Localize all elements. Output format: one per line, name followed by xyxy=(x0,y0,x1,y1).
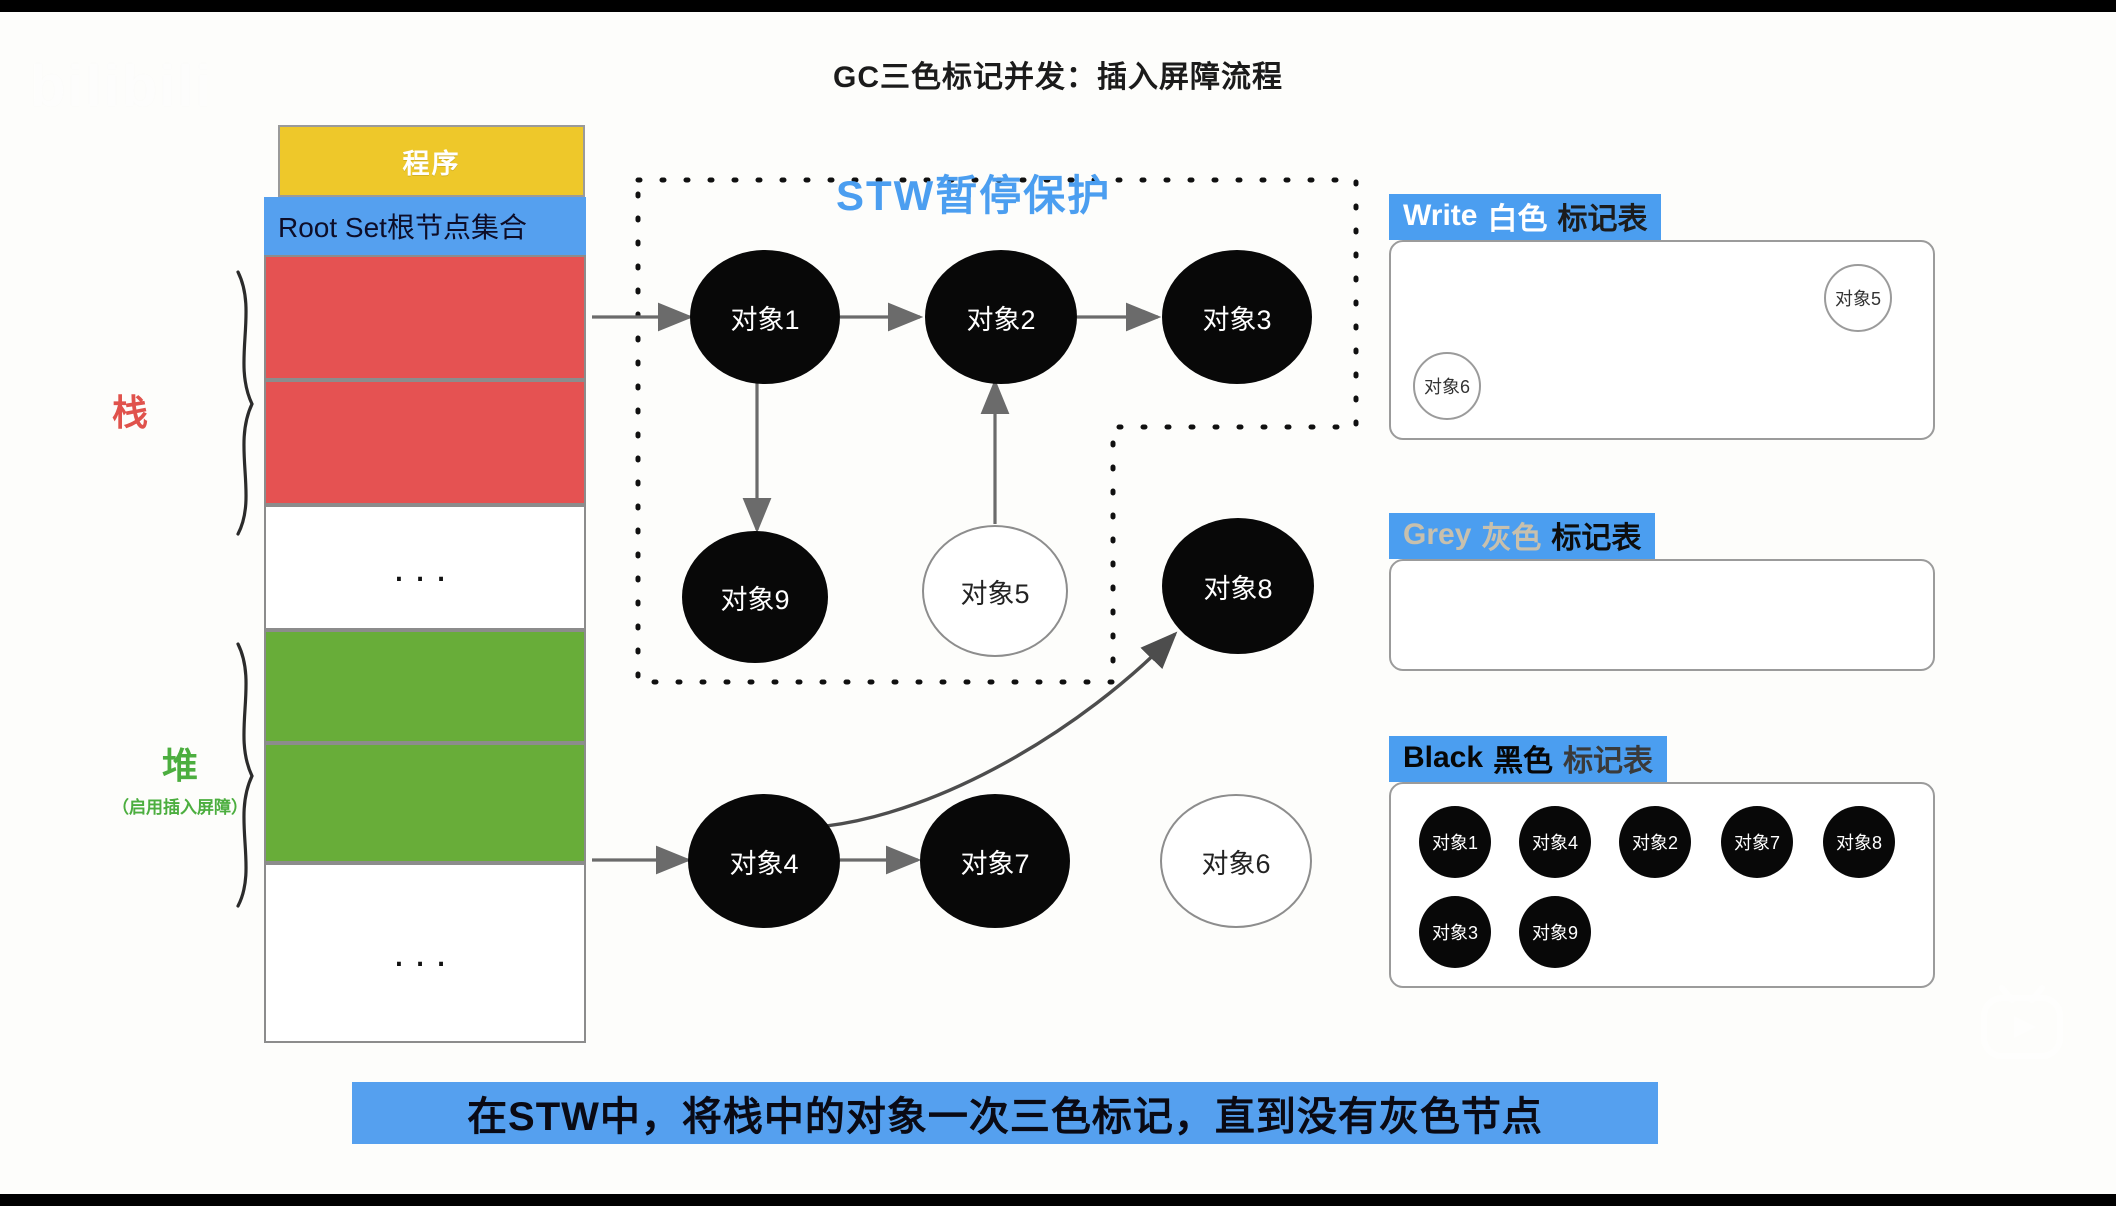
black-mark-chip-5[interactable]: 对象8 xyxy=(1823,806,1895,878)
memory-block-gap-2: ... xyxy=(264,863,586,1043)
stw-label: STW暂停保护 xyxy=(836,162,1111,223)
memory-block-heap-1 xyxy=(264,630,586,743)
black-mark-chip-1-label: 对象1 xyxy=(1432,829,1478,855)
memory-block-root-set: Root Set根节点集合 xyxy=(264,197,586,255)
heap-label: 堆 xyxy=(90,737,270,789)
black-mark-table-cn: 黑色 xyxy=(1493,736,1553,780)
graph-node-o4[interactable]: 对象4 xyxy=(688,794,840,928)
white-mark-table-suffix: 标记表 xyxy=(1557,194,1647,238)
memory-block-stack-2 xyxy=(264,380,586,505)
graph-node-o9[interactable]: 对象9 xyxy=(682,531,828,663)
graph-node-o1-label: 对象1 xyxy=(730,298,799,337)
graph-node-o3[interactable]: 对象3 xyxy=(1162,250,1312,384)
black-mark-table-header: Black 黑色 标记表 xyxy=(1389,736,1667,782)
white-mark-table-en: Write xyxy=(1403,199,1477,233)
graph-node-o4-label: 对象4 xyxy=(729,842,798,881)
black-mark-table-body: 对象1 对象4 对象2 对象7 对象8 对象3 对象9 xyxy=(1389,782,1935,988)
black-mark-chip-5-label: 对象8 xyxy=(1836,829,1882,855)
graph-node-o1[interactable]: 对象1 xyxy=(690,250,840,384)
white-mark-chip-1[interactable]: 对象5 xyxy=(1824,264,1892,332)
grey-mark-table-cn: 灰色 xyxy=(1481,513,1541,557)
black-mark-chip-3-label: 对象2 xyxy=(1632,829,1678,855)
white-mark-chip-2-label: 对象6 xyxy=(1424,373,1470,399)
memory-block-gap-1-label: ... xyxy=(266,548,584,588)
black-mark-chip-3[interactable]: 对象2 xyxy=(1619,806,1691,878)
memory-block-program: 程序 xyxy=(278,125,585,197)
stack-label: 栈 xyxy=(112,384,148,436)
graph-node-o3-label: 对象3 xyxy=(1202,298,1271,337)
memory-block-heap-2 xyxy=(264,743,586,863)
graph-node-o6[interactable]: 对象6 xyxy=(1160,794,1312,928)
black-mark-chip-7[interactable]: 对象9 xyxy=(1519,896,1591,968)
memory-block-root-set-label: Root Set根节点集合 xyxy=(266,206,584,246)
graph-node-o2[interactable]: 对象2 xyxy=(925,250,1077,384)
graph-node-o9-label: 对象9 xyxy=(720,578,789,617)
graph-node-o5[interactable]: 对象5 xyxy=(922,525,1068,657)
memory-block-gap-2-label: ... xyxy=(266,933,584,973)
graph-node-o8-label: 对象8 xyxy=(1203,567,1272,606)
black-mark-chip-4-label: 对象7 xyxy=(1734,829,1780,855)
grey-mark-table-header: Grey 灰色 标记表 xyxy=(1389,513,1655,559)
memory-block-stack-1 xyxy=(264,255,586,380)
black-mark-chip-2-label: 对象4 xyxy=(1532,829,1578,855)
black-mark-table-suffix: 标记表 xyxy=(1563,736,1653,780)
heap-sublabel: （启用插入屏障） xyxy=(90,793,270,818)
white-mark-table-header: Write 白色 标记表 xyxy=(1389,194,1661,240)
bilibili-tv-icon xyxy=(1968,974,2076,1070)
black-mark-table-en: Black xyxy=(1403,741,1483,775)
white-mark-table-cn: 白色 xyxy=(1487,194,1547,238)
grey-mark-table-body xyxy=(1389,559,1935,671)
black-mark-chip-6-label: 对象3 xyxy=(1432,919,1478,945)
stack-brace xyxy=(238,272,252,534)
video-frame: bilibili GC三色标记并发：插入屏障流程 程序 Root Set根节点集… xyxy=(0,0,2116,1206)
slide-canvas: bilibili GC三色标记并发：插入屏障流程 程序 Root Set根节点集… xyxy=(0,12,2116,1194)
black-mark-chip-1[interactable]: 对象1 xyxy=(1419,806,1491,878)
graph-node-o7[interactable]: 对象7 xyxy=(920,794,1070,928)
grey-mark-table-en: Grey xyxy=(1403,518,1471,552)
white-mark-chip-1-label: 对象5 xyxy=(1835,285,1881,311)
slide-caption: 在STW中，将栈中的对象一次三色标记，直到没有灰色节点 xyxy=(352,1082,1658,1144)
page-title: GC三色标记并发：插入屏障流程 xyxy=(0,52,2116,96)
black-mark-chip-4[interactable]: 对象7 xyxy=(1721,806,1793,878)
black-mark-chip-7-label: 对象9 xyxy=(1532,919,1578,945)
white-mark-table-body: 对象5 对象6 xyxy=(1389,240,1935,440)
white-mark-chip-2[interactable]: 对象6 xyxy=(1413,352,1481,420)
graph-node-o7-label: 对象7 xyxy=(960,842,1029,881)
graph-node-o8[interactable]: 对象8 xyxy=(1162,518,1314,654)
heap-label-group: 堆 （启用插入屏障） xyxy=(90,737,270,818)
black-mark-chip-6[interactable]: 对象3 xyxy=(1419,896,1491,968)
black-mark-chip-2[interactable]: 对象4 xyxy=(1519,806,1591,878)
graph-node-o2-label: 对象2 xyxy=(966,298,1035,337)
graph-node-o5-label: 对象5 xyxy=(960,572,1029,611)
grey-mark-table-suffix: 标记表 xyxy=(1551,513,1641,557)
memory-block-gap-1: ... xyxy=(264,505,586,630)
memory-block-program-label: 程序 xyxy=(280,142,583,181)
graph-node-o6-label: 对象6 xyxy=(1201,842,1270,881)
